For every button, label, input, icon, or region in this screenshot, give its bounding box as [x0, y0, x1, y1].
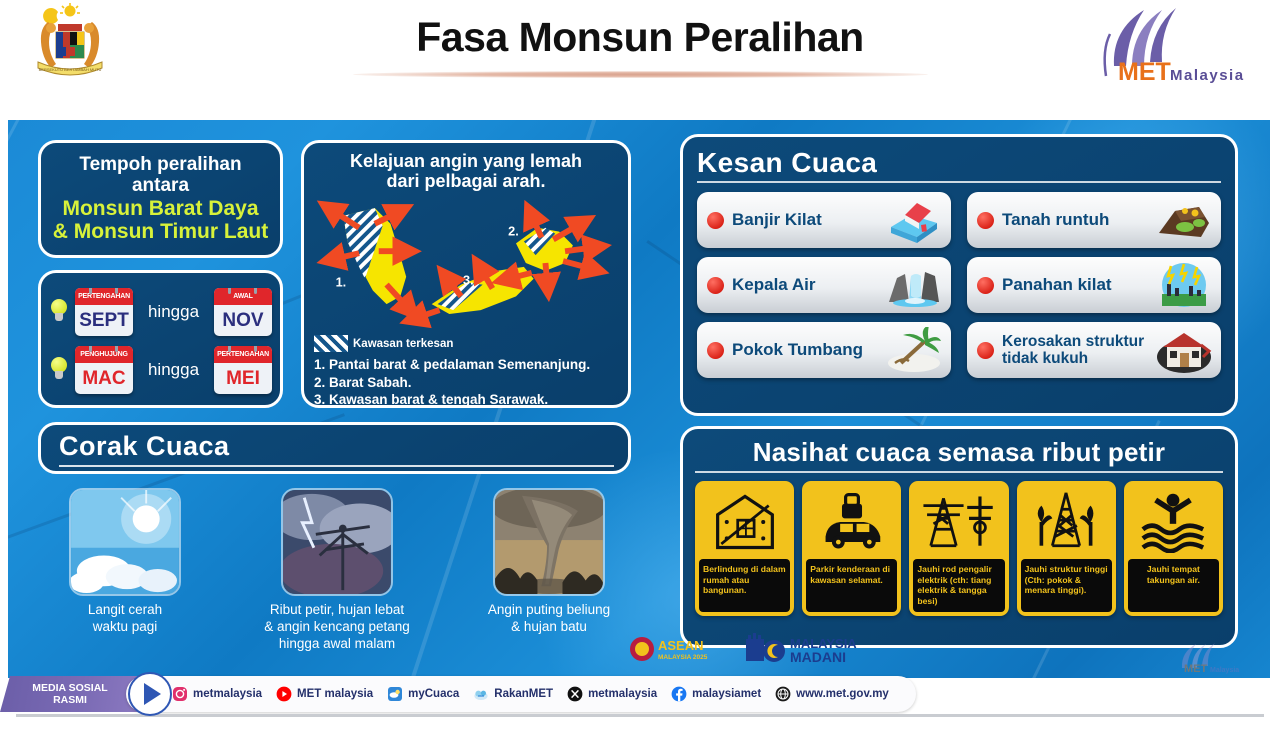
- calendar-to-label: AWAL: [214, 288, 272, 305]
- tempoh-line4: & Monsun Timur Laut: [53, 220, 268, 244]
- calendar-to-month: NOV: [214, 305, 272, 336]
- corak-item: Langit cerah waktu pagi: [38, 488, 212, 653]
- bullet-dot-icon: [707, 342, 724, 359]
- social-label: metmalaysia: [193, 688, 262, 700]
- corak-cuaca-items: Langit cerah waktu pagi: [38, 488, 638, 653]
- kesan-label: Tanah runtuh: [1002, 211, 1155, 230]
- tempoh-line2: antara: [53, 175, 268, 196]
- wind-title-line1: Kelajuan angin yang lemah: [314, 151, 618, 171]
- rakanmet-icon: [473, 686, 489, 702]
- social-link-rakanmet[interactable]: RakanMET: [473, 686, 553, 702]
- wind-area-item: 1. Pantai barat & pedalaman Semenanjung.: [314, 356, 618, 373]
- clear-sky-photo: [69, 488, 181, 596]
- fallen-tree-icon: [885, 327, 943, 373]
- corak-item: Ribut petir, hujan lebat & angin kencang…: [250, 488, 424, 653]
- lightning-strike-icon: [1155, 262, 1213, 308]
- map-legend: Kawasan terkesan: [314, 335, 618, 352]
- person-in-water-icon: [1128, 485, 1219, 559]
- nasihat-card[interactable]: Jauhi rod pengalir elektrik (cth: tiang …: [909, 481, 1008, 616]
- water-surge-icon: [885, 262, 943, 308]
- infographic-panel: Tempoh peralihan antara Monsun Barat Day…: [8, 120, 1270, 678]
- wind-area-item: 3. Kawasan barat & tengah Sarawak.: [314, 391, 618, 408]
- legend-label: Kawasan terkesan: [353, 338, 453, 350]
- bullet-dot-icon: [977, 212, 994, 229]
- social-link-x[interactable]: metmalaysia: [567, 686, 657, 702]
- kesan-card[interactable]: Panahan kilat: [967, 257, 1221, 313]
- shelter-house-icon: [699, 485, 790, 559]
- kesan-card[interactable]: Tanah runtuh: [967, 192, 1221, 248]
- calendar-to-label: PERTENGAHAN: [214, 346, 272, 363]
- calendar-from-month: SEPT: [75, 305, 133, 336]
- calendar-to-month: MEI: [214, 363, 272, 394]
- calendar-from: PERTENGAHAN SEPT: [75, 288, 133, 336]
- page-header: BERSEKUTU BERTAMBAH MUTU Fasa Monsun Per…: [0, 0, 1280, 112]
- mycuaca-app-icon: [387, 686, 403, 702]
- kesan-label: Kerosakan struktur tidak kukuh: [1002, 333, 1155, 367]
- social-link-facebook[interactable]: malaysiamet: [671, 686, 761, 702]
- bottom-divider: [16, 714, 1264, 717]
- corak-caption: Ribut petir, hujan lebat & angin kencang…: [250, 602, 424, 653]
- lightbulb-icon: [49, 299, 69, 325]
- corak-item: Angin puting beliung & hujan batu: [462, 488, 636, 653]
- play-button[interactable]: [128, 672, 172, 716]
- svg-text:MADANI: MADANI: [790, 649, 846, 665]
- social-link-youtube[interactable]: MET malaysia: [276, 686, 373, 702]
- partner-logos: ASEAN MALAYSIA 2025 MALAYSIA MADANI: [628, 632, 928, 666]
- calendar-row: PENGHUJUNG MAC hingga PERTENGAHAN MEI: [49, 341, 272, 399]
- facebook-icon: [671, 686, 687, 702]
- kesan-label: Banjir Kilat: [732, 211, 885, 230]
- bottom-strip: [0, 714, 1280, 732]
- calendar-connector: hingga: [139, 360, 208, 380]
- x-twitter-icon: [567, 686, 583, 702]
- damaged-house-icon: [1155, 327, 1213, 373]
- kesan-card[interactable]: Banjir Kilat: [697, 192, 951, 248]
- hatch-swatch-icon: [314, 335, 348, 352]
- play-icon: [144, 683, 161, 705]
- calendar-connector: hingga: [139, 302, 208, 322]
- malaysia-wind-map: 1. 2. 3.: [314, 193, 618, 333]
- svg-text:MET: MET: [1118, 58, 1171, 86]
- calendar-from-label: PENGHUJUNG: [75, 346, 133, 363]
- title-underline: [353, 71, 928, 78]
- social-media-bar: MEDIA SOSIAL RASMI metmalaysia MET malay…: [0, 676, 918, 712]
- parked-car-icon: [806, 485, 897, 559]
- power-lines-icon: [913, 485, 1004, 559]
- corak-caption: Angin puting beliung & hujan batu: [462, 602, 636, 636]
- svg-text:Malaysia: Malaysia: [1210, 667, 1239, 674]
- lightbulb-icon: [49, 357, 69, 383]
- tempoh-peralihan-box: Tempoh peralihan antara Monsun Barat Day…: [38, 140, 283, 258]
- corak-cuaca-heading: Corak Cuaca: [59, 431, 230, 462]
- calendar-from-label: PERTENGAHAN: [75, 288, 133, 305]
- svg-text:1.: 1.: [336, 275, 347, 290]
- bullet-dot-icon: [977, 342, 994, 359]
- wind-area-item: 2. Barat Sabah.: [314, 374, 618, 391]
- svg-text:2.: 2.: [508, 224, 519, 239]
- social-label: RakanMET: [494, 688, 553, 700]
- tempoh-line1: Tempoh peralihan: [53, 154, 268, 175]
- nasihat-caption: Jauhi rod pengalir elektrik (cth: tiang …: [913, 559, 1004, 612]
- social-link-website[interactable]: www.met.gov.my: [775, 686, 889, 702]
- asean-malaysia-2025-logo: ASEAN MALAYSIA 2025: [628, 634, 738, 664]
- youtube-icon: [276, 686, 292, 702]
- nasihat-card[interactable]: Parkir kenderaan di kawasan selamat.: [802, 481, 901, 616]
- landslide-icon: [1155, 197, 1213, 243]
- social-label: www.met.gov.my: [796, 688, 889, 700]
- nasihat-card[interactable]: Jauhi tempat takungan air.: [1124, 481, 1223, 616]
- corak-cuaca-header: Corak Cuaca: [38, 422, 631, 474]
- kesan-label: Kepala Air: [732, 276, 885, 295]
- social-label: MET malaysia: [297, 688, 373, 700]
- thunderstorm-photo: [281, 488, 393, 596]
- tab-line2: RASMI: [53, 694, 87, 706]
- social-label: malaysiamet: [692, 688, 761, 700]
- bullet-dot-icon: [707, 212, 724, 229]
- nasihat-card[interactable]: Berlindung di dalam rumah atau bangunan.: [695, 481, 794, 616]
- title-block: Fasa Monsun Peralihan: [300, 14, 980, 78]
- nasihat-heading: Nasihat cuaca semasa ribut petir: [695, 437, 1223, 468]
- corak-caption: Langit cerah waktu pagi: [38, 602, 212, 636]
- svg-text:MALAYSIA 2025: MALAYSIA 2025: [658, 654, 708, 661]
- svg-text:MET: MET: [1184, 663, 1208, 674]
- kesan-cuaca-box: Kesan Cuaca Banjir Kilat Tanah runtuh: [680, 134, 1238, 416]
- social-link-instagram[interactable]: metmalaysia: [172, 686, 262, 702]
- calendar-to: PERTENGAHAN MEI: [214, 346, 272, 394]
- social-label: myCuaca: [408, 688, 459, 700]
- wind-title-line2: dari pelbagai arah.: [314, 171, 618, 191]
- metmalaysia-logo: MET Malaysia: [1084, 4, 1252, 86]
- social-label: metmalaysia: [588, 688, 657, 700]
- svg-text:3.: 3.: [463, 273, 474, 288]
- calendar-from: PENGHUJUNG MAC: [75, 346, 133, 394]
- kesan-cuaca-heading: Kesan Cuaca: [697, 147, 1221, 179]
- calendar-row: PERTENGAHAN SEPT hingga AWAL NOV: [49, 283, 272, 341]
- calendar-to: AWAL NOV: [214, 288, 272, 336]
- media-sosial-rasmi-tab: MEDIA SOSIAL RASMI: [0, 676, 140, 712]
- nasihat-card[interactable]: Jauhi struktur tinggi (Cth: pokok & mena…: [1017, 481, 1116, 616]
- kesan-label: Panahan kilat: [1002, 276, 1155, 295]
- kesan-label: Pokok Tumbang: [732, 341, 885, 360]
- page-title: Fasa Monsun Peralihan: [300, 14, 980, 61]
- svg-text:Malaysia: Malaysia: [1170, 67, 1245, 84]
- nasihat-caption: Parkir kenderaan di kawasan selamat.: [806, 559, 897, 612]
- malaysia-madani-logo: MALAYSIA MADANI: [744, 633, 884, 665]
- kesan-card[interactable]: Pokok Tumbang: [697, 322, 951, 378]
- tall-tower-icon: [1021, 485, 1112, 559]
- social-links-pill: metmalaysia MET malaysia myCuaca: [126, 676, 916, 712]
- svg-text:ASEAN: ASEAN: [658, 638, 704, 653]
- malaysia-coat-of-arms: BERSEKUTU BERTAMBAH MUTU: [18, 2, 122, 86]
- nasihat-caption: Jauhi tempat takungan air.: [1128, 559, 1219, 612]
- nasihat-caption: Berlindung di dalam rumah atau bangunan.: [699, 559, 790, 612]
- tornado-photo: [493, 488, 605, 596]
- nasihat-cuaca-box: Nasihat cuaca semasa ribut petir Berlind…: [680, 426, 1238, 648]
- calendar-from-month: MAC: [75, 363, 133, 394]
- calendar-box: PERTENGAHAN SEPT hingga AWAL NOV PENGHUJ…: [38, 270, 283, 408]
- social-link-mycuaca[interactable]: myCuaca: [387, 686, 459, 702]
- kesan-card[interactable]: Kepala Air: [697, 257, 951, 313]
- instagram-icon: [172, 686, 188, 702]
- tempoh-line3: Monsun Barat Daya: [53, 197, 268, 221]
- kesan-card[interactable]: Kerosakan struktur tidak kukuh: [967, 322, 1221, 378]
- svg-text:BERSEKUTU BERTAMBAH MUTU: BERSEKUTU BERTAMBAH MUTU: [39, 67, 102, 72]
- nasihat-caption: Jauhi struktur tinggi (Cth: pokok & mena…: [1021, 559, 1112, 612]
- flash-flood-icon: [885, 197, 943, 243]
- wind-map-box: Kelajuan angin yang lemah dari pelbagai …: [301, 140, 631, 408]
- met-watermark-logo: MET Malaysia: [1166, 640, 1258, 674]
- globe-icon: [775, 686, 791, 702]
- tab-line1: MEDIA SOSIAL: [32, 682, 107, 694]
- bullet-dot-icon: [977, 277, 994, 294]
- bullet-dot-icon: [707, 277, 724, 294]
